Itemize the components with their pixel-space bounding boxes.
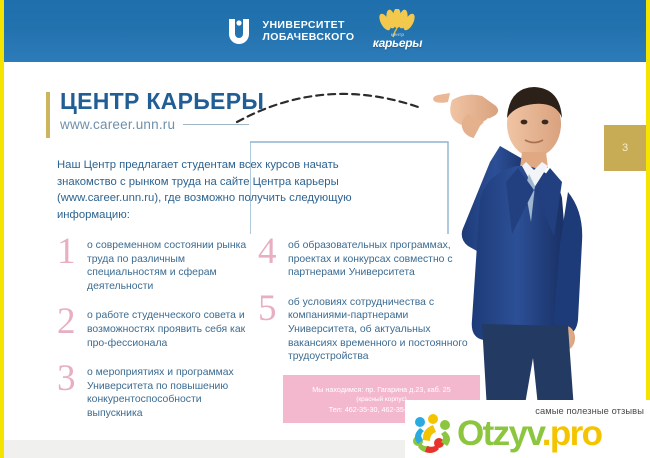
unn-u-mark-icon [224, 16, 254, 46]
left-edge-strip [0, 0, 4, 458]
page-number-tab: 3 [604, 125, 646, 171]
contact-address: Мы находимся: пр. Гагарина д.23, каб. 25 [312, 385, 451, 394]
list-item: 1 о современном состоянии рынка труда по… [57, 236, 247, 293]
contact-building: (красный корпус) [356, 395, 407, 404]
intro-paragraph: Наш Центр предлагает студентам всех курс… [57, 157, 387, 223]
list-item: 3 о мероприятиях и программах Университе… [57, 363, 247, 420]
university-logo-line1: УНИВЕРСИТЕТ [263, 19, 345, 31]
site-url[interactable]: www.career.unn.ru [60, 117, 175, 132]
list-item-text: об образовательных программах, проектах … [288, 236, 473, 280]
people-logo-icon [409, 414, 453, 458]
list-column-right: 4 об образовательных программах, проекта… [258, 236, 473, 377]
university-logo-text: УНИВЕРСИТЕТ ЛОБАЧЕВСКОГО [263, 19, 355, 43]
watermark-brand-first: Otzyv [457, 414, 542, 453]
list-column-left: 1 о современном состоянии рынка труда по… [57, 236, 247, 434]
list-item: 2 о работе студенческого совета и возмож… [57, 306, 247, 350]
list-item-number: 1 [57, 236, 87, 267]
list-item-number: 4 [258, 236, 288, 267]
university-logo-line2: ЛОБАЧЕВСКОГО [263, 31, 355, 43]
career-center-logo: центр карьеры [368, 10, 426, 52]
right-edge-strip [646, 0, 650, 458]
list-item: 4 об образовательных программах, проекта… [258, 236, 473, 280]
page-number: 3 [622, 142, 628, 154]
subtitle-row: www.career.unn.ru [60, 117, 264, 132]
watermark-brand-second: .pro [542, 414, 602, 453]
list-item-text: о работе студенческого совета и возможно… [87, 306, 247, 350]
watermark: самые полезные отзывы Otzyv.pro [405, 400, 650, 458]
watermark-brand: Otzyv.pro [457, 415, 601, 453]
list-item: 5 об условиях сотрудничества с компаниям… [258, 293, 473, 364]
title-accent-rule [46, 92, 50, 138]
slide-canvas: УНИВЕРСИТЕТ ЛОБАЧЕВСКОГО [0, 0, 650, 458]
list-item-text: об условиях сотрудничества с компаниями-… [288, 293, 473, 364]
university-logo: УНИВЕРСИТЕТ ЛОБАЧЕВСКОГО [224, 16, 355, 46]
list-item-number: 5 [258, 293, 288, 324]
page-title: ЦЕНТР КАРЬЕРЫ [60, 88, 264, 114]
list-item-number: 3 [57, 363, 87, 394]
list-item-text: о современном состоянии рынка труда по р… [87, 236, 247, 293]
header-band: УНИВЕРСИТЕТ ЛОБАЧЕВСКОГО [0, 0, 650, 62]
career-logo-word: карьеры [368, 36, 426, 50]
subtitle-rule [183, 124, 249, 125]
header-logos: УНИВЕРСИТЕТ ЛОБАЧЕВСКОГО [0, 0, 650, 62]
list-item-number: 2 [57, 306, 87, 337]
list-item-text: о мероприятиях и программах Университета… [87, 363, 247, 420]
title-block: ЦЕНТР КАРЬЕРЫ www.career.unn.ru [46, 88, 264, 132]
